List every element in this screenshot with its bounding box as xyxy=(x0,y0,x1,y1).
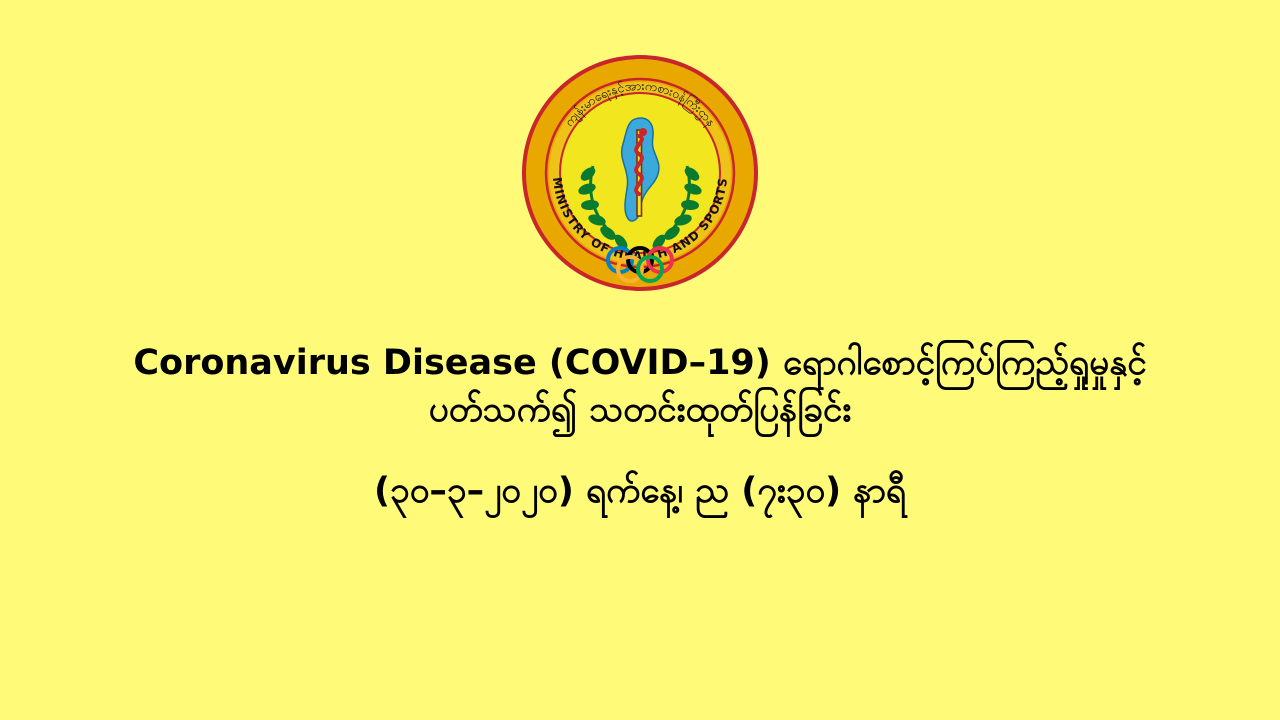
announcement-page: ကျန်းမာရေးနှင့်အားကစားဝန်ကြီးဌာန MINISTR… xyxy=(0,0,1280,720)
announcement-datetime: (၃၀–၃–၂၀၂၀) ရက်နေ့၊ ည (၇း၃၀) နာရီ xyxy=(40,468,1240,515)
headline-line-2: ပတ်သက်၍ သတင်းထုတ်ပြန်ခြင်း xyxy=(80,387,1200,434)
page-title: Coronavirus Disease (COVID–19) ရောဂါစောင… xyxy=(40,340,1240,434)
headline-line-1: Coronavirus Disease (COVID–19) ရောဂါစောင… xyxy=(133,343,1146,383)
announcement-text-block: Coronavirus Disease (COVID–19) ရောဂါစောင… xyxy=(40,340,1240,515)
ministry-emblem: ကျန်းမာရေးနှင့်အားကစားဝန်ကြီးဌာန MINISTR… xyxy=(515,48,765,298)
